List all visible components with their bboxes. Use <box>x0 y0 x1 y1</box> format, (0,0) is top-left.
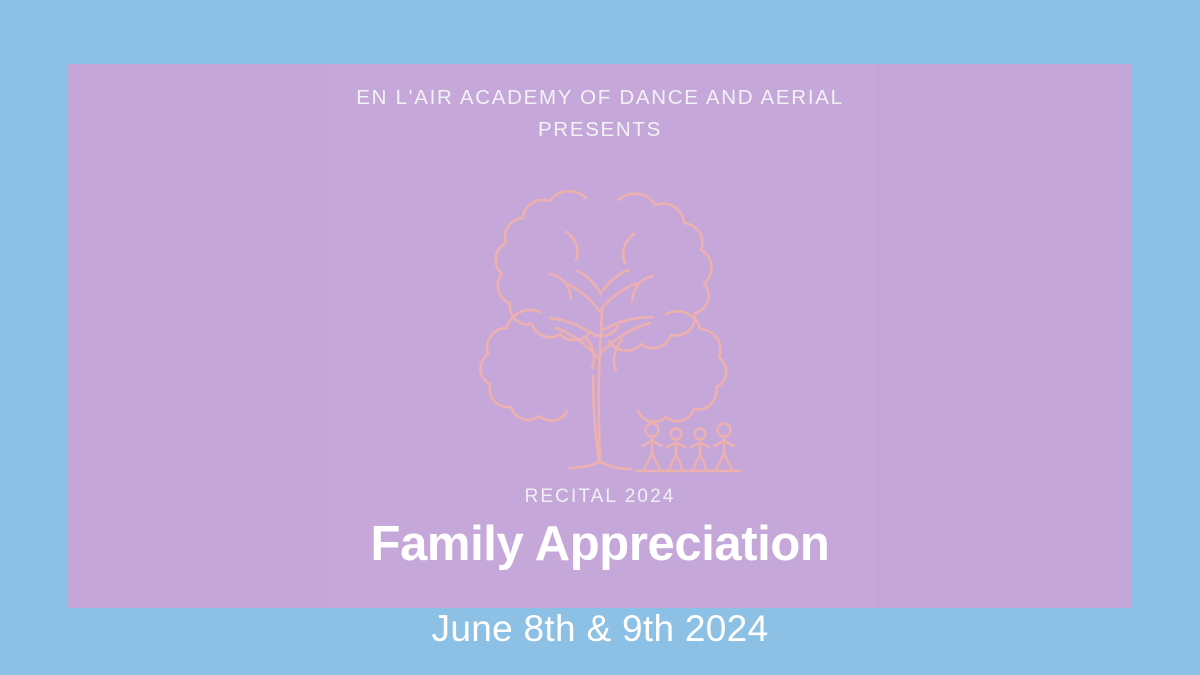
poster-title: Family Appreciation <box>68 516 1132 572</box>
tree-with-family-illustration <box>390 162 810 492</box>
tree-trunk <box>550 270 653 469</box>
recital-label: RECITAL 2024 <box>68 486 1132 508</box>
performance-dates: June 8th & 9th 2024 <box>0 608 1200 650</box>
presenter-line-1: EN L'AIR ACADEMY OF DANCE AND AERIAL <box>356 86 843 109</box>
poster-canvas: EN L'AIR ACADEMY OF DANCE AND AERIAL PRE… <box>0 0 1200 675</box>
poster-panel: EN L'AIR ACADEMY OF DANCE AND AERIAL PRE… <box>68 64 1132 608</box>
presenter-line-2: PRESENTS <box>68 114 1132 146</box>
presenter-heading: EN L'AIR ACADEMY OF DANCE AND AERIAL PRE… <box>68 82 1132 146</box>
family-figures <box>636 424 740 472</box>
